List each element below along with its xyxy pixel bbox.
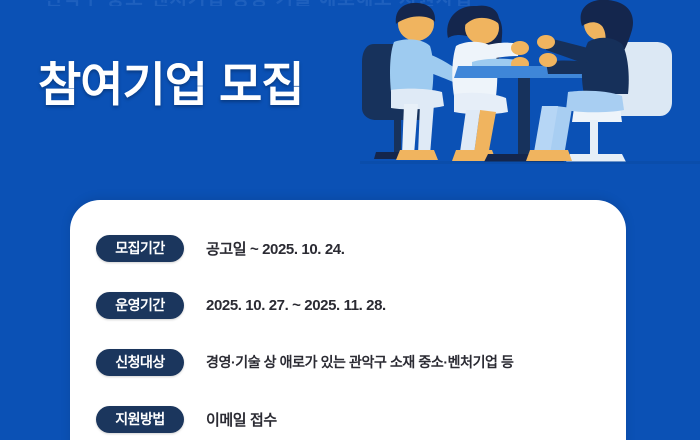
info-label-operation-period: 운영기간: [96, 292, 184, 319]
chair-light-base: [566, 154, 626, 162]
info-row: 운영기간 2025. 10. 27. ~ 2025. 11. 28.: [96, 291, 626, 319]
person-left-shoe-2: [396, 150, 420, 160]
info-card: 모집기간 공고일 ~ 2025. 10. 24. 운영기간 2025. 10. …: [70, 200, 626, 440]
info-row: 신청대상 경영·기술 상 애로가 있는 관악구 소재 중소·벤처기업 등: [96, 348, 626, 376]
person-right-hand-1: [537, 35, 555, 49]
person-right-top: [582, 38, 629, 94]
info-row: 모집기간 공고일 ~ 2025. 10. 24.: [96, 234, 626, 262]
info-label-recruitment-period: 모집기간: [96, 235, 184, 262]
person-left-leg-1: [418, 104, 434, 155]
info-value-recruitment-period: 공고일 ~ 2025. 10. 24.: [206, 238, 344, 259]
info-label-application-target: 신청대상: [96, 349, 184, 376]
person-mid-hand-1: [511, 41, 529, 55]
table-post: [518, 78, 530, 154]
person-right-hand-2: [539, 53, 557, 67]
info-label-application-method: 지원방법: [96, 406, 184, 433]
meeting-illustration: [360, 0, 700, 175]
info-rows: 모집기간 공고일 ~ 2025. 10. 24. 운영기간 2025. 10. …: [70, 200, 626, 440]
page-title: 참여기업 모집: [38, 47, 368, 113]
info-value-operation-period: 2025. 10. 27. ~ 2025. 11. 28.: [206, 297, 386, 314]
person-right-lap: [566, 91, 624, 113]
person-left-leg-2: [402, 104, 418, 155]
info-row: 지원방법 이메일 접수: [96, 405, 626, 433]
person-mid-foot-2: [452, 150, 476, 161]
info-value-application-target: 경영·기술 상 애로가 있는 관악구 소재 중소·벤처기업 등: [206, 352, 514, 372]
ground-shadow: [360, 161, 700, 164]
poster-root: 관악구 중소·벤처기업 경영·기술 애로해소 지원사업 참여기업 모집: [0, 0, 700, 440]
info-value-application-method: 이메일 접수: [206, 409, 277, 430]
chair-dark-post: [394, 118, 401, 152]
chair-light-post: [590, 120, 598, 154]
person-right-shoe-2: [526, 150, 552, 161]
